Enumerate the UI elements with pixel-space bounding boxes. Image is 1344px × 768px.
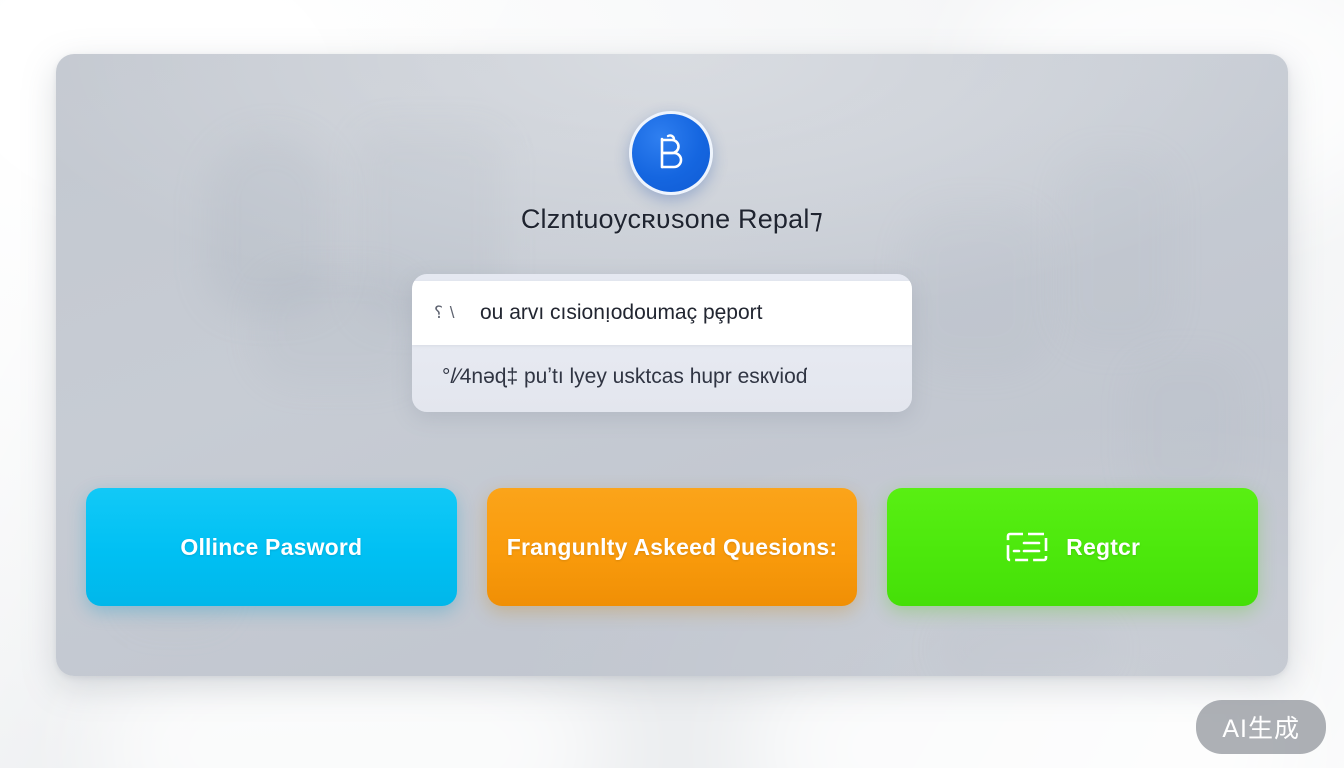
online-password-button[interactable]: Ollince Pasword <box>86 488 457 606</box>
register-button[interactable]: Regtcr <box>887 488 1258 606</box>
info-row-text: ou arvı cısionı̣odoumaç pȩport <box>480 301 763 325</box>
register-label: Regtcr <box>1066 534 1140 561</box>
info-card: ⸮ \ ou arvı cısionı̣odoumaç pȩport °/⁄… <box>412 274 912 412</box>
faq-label: Frangunlty Askeed Quesions: <box>507 534 837 561</box>
info-row-text: °/⁄4nǝɖ‡ puʼtı Ɩyey usktcas hupr esкviоɗ <box>442 365 807 389</box>
faq-button[interactable]: Frangunlty Askeed Quesions: <box>487 488 858 606</box>
info-row[interactable]: ⸮ \ ou arvı cısionı̣odoumaç pȩport <box>412 281 912 345</box>
ai-generated-watermark: AI生成 <box>1196 700 1326 754</box>
page-title: Clzntuoycʀʋsone Repal⁊ <box>56 204 1288 235</box>
brand-b-circle-icon <box>649 131 693 175</box>
main-panel: Clzntuoycʀʋsone Repal⁊ ⸮ \ ou arvı cısio… <box>56 54 1288 676</box>
brand-logo-badge <box>629 111 713 195</box>
info-row-mark: ⸮ \ <box>434 303 480 323</box>
info-row[interactable]: °/⁄4nǝɖ‡ puʼtı Ɩyey usktcas hupr esкviоɗ <box>412 345 912 409</box>
id-card-icon <box>1005 530 1049 564</box>
action-button-row: Ollince Pasword Frangunlty Askeed Quesio… <box>86 488 1258 606</box>
online-password-label: Ollince Pasword <box>180 534 362 561</box>
